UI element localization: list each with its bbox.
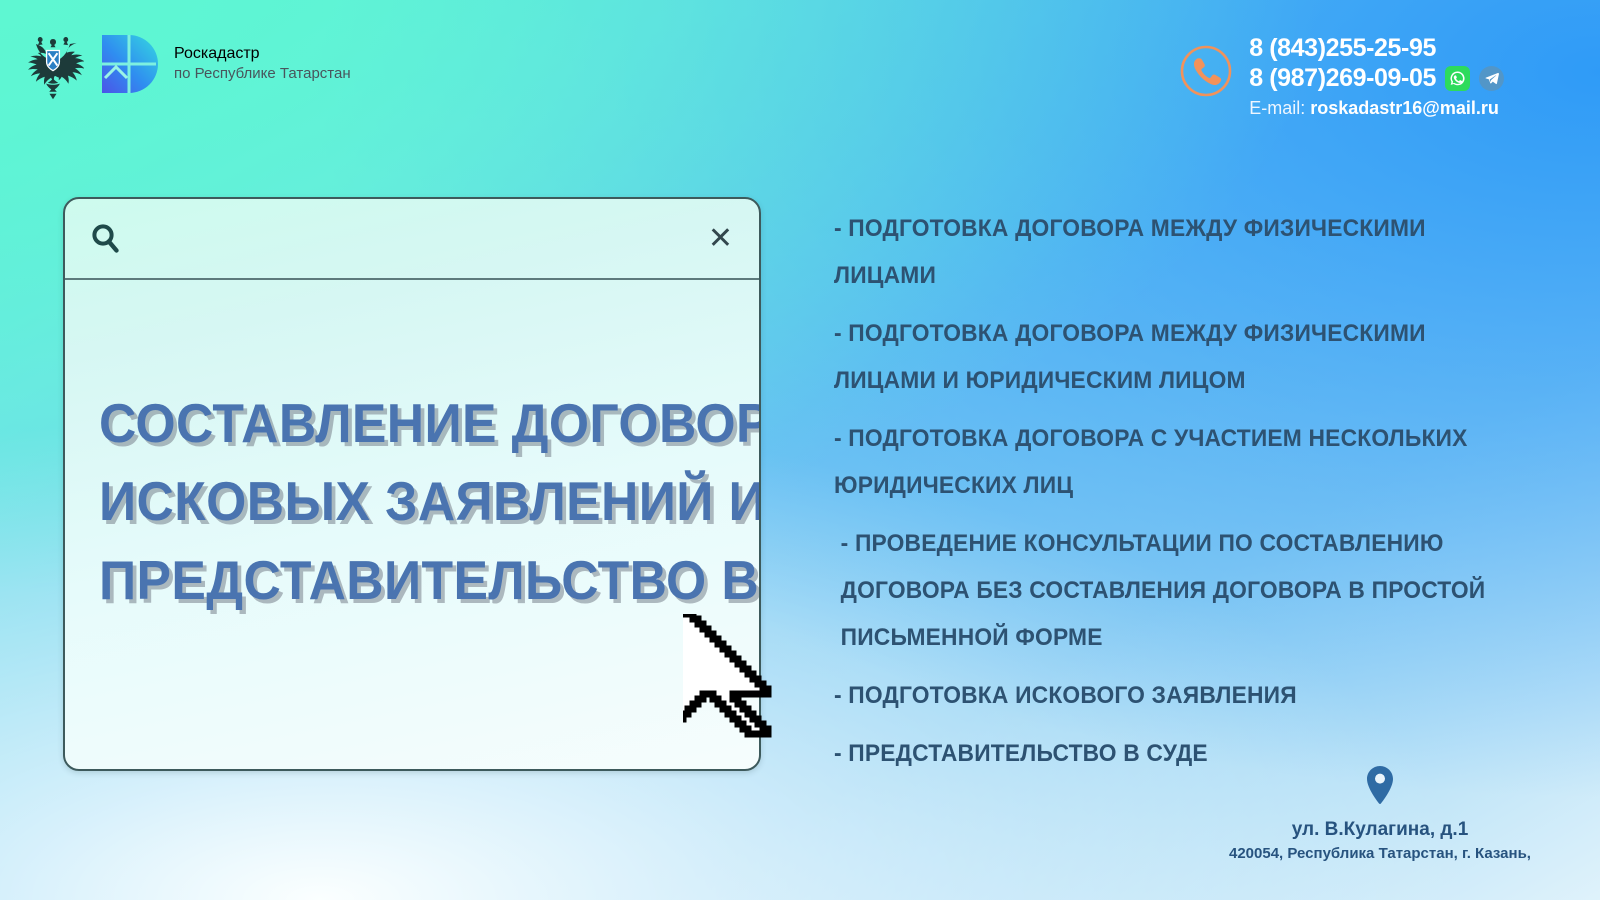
telegram-icon[interactable] (1479, 66, 1504, 91)
email-label: E-mail: (1249, 98, 1305, 118)
address-region: 420054, Республика Татарстан, г. Казань, (1180, 845, 1580, 863)
search-bar[interactable]: ✕ (65, 199, 759, 280)
phone-number-secondary[interactable]: 8 (987)269-09-05 (1249, 64, 1436, 94)
whatsapp-icon[interactable] (1445, 66, 1470, 91)
email-value[interactable]: roskadastr16@mail.ru (1310, 98, 1499, 118)
phone-number-primary[interactable]: 8 (843)255-25-95 (1249, 34, 1436, 64)
close-icon[interactable]: ✕ (708, 224, 733, 254)
brand-subtitle: по Республике Татарстан (174, 66, 351, 83)
list-item: - ПОДГОТОВКА ДОГОВОРА МЕЖДУ ФИЗИЧЕСКИМИ … (834, 310, 1499, 404)
brand-header: Роскадастр по Республике Татарстан (22, 26, 351, 102)
list-item: - ПОДГОТОВКА ДОГОВОРА С УЧАСТИЕМ НЕСКОЛЬ… (834, 415, 1499, 509)
list-item: - ПРОВЕДЕНИЕ КОНСУЛЬТАЦИИ ПО СОСТАВЛЕНИЮ… (834, 520, 1499, 661)
search-icon[interactable] (89, 222, 123, 256)
roskadastr-logo-icon (98, 33, 160, 95)
headline-line-3: ПРЕДСТАВИТЕЛЬСТВО В СУДЕ (99, 541, 725, 619)
list-item: - ПОДГОТОВКА ИСКОВОГО ЗАЯВЛЕНИЯ (834, 672, 1499, 719)
phone-icon (1179, 44, 1233, 98)
search-card-body: СОСТАВЛЕНИЕ ДОГОВОРОВ, ИСКОВЫХ ЗАЯВЛЕНИЙ… (65, 280, 759, 769)
headline-line-1: СОСТАВЛЕНИЕ ДОГОВОРОВ, (99, 384, 725, 462)
address-block: ул. В.Кулагина, д.1 420054, Республика Т… (1180, 766, 1580, 863)
phone-row-2[interactable]: 8 (987)269-09-05 (1249, 64, 1504, 94)
list-item: - ПОДГОТОВКА ДОГОВОРА МЕЖДУ ФИЗИЧЕСКИМИ … (834, 205, 1499, 299)
services-list: - ПОДГОТОВКА ДОГОВОРА МЕЖДУ ФИЗИЧЕСКИМИ … (834, 205, 1534, 788)
map-pin-icon (1366, 766, 1394, 804)
phone-row-1[interactable]: 8 (843)255-25-95 (1249, 34, 1504, 64)
address-street: ул. В.Кулагина, д.1 (1180, 819, 1580, 842)
search-window-card: ✕ СОСТАВЛЕНИЕ ДОГОВОРОВ, ИСКОВЫХ ЗАЯВЛЕН… (63, 197, 761, 771)
poster-canvas: Роскадастр по Республике Татарстан 8 (84… (0, 0, 1600, 900)
brand-text-block: Роскадастр по Республике Татарстан (174, 45, 351, 83)
headline-line-2: ИСКОВЫХ ЗАЯВЛЕНИЙ И (99, 462, 725, 540)
brand-title: Роскадастр (174, 45, 351, 63)
russian-coat-of-arms-icon (22, 26, 84, 102)
contact-block: 8 (843)255-25-95 8 (987)269-09-05 E-mail… (1179, 34, 1504, 119)
contact-lines: 8 (843)255-25-95 8 (987)269-09-05 E-mail… (1249, 34, 1504, 119)
email-row[interactable]: E-mail: roskadastr16@mail.ru (1249, 98, 1504, 119)
